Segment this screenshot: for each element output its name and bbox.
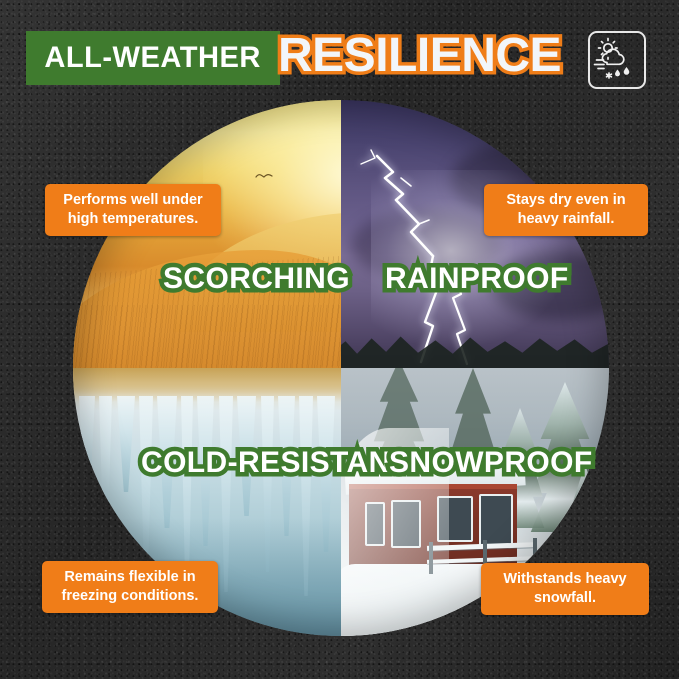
callout-heavy-rainfall: Stays dry even in heavy rainfall. [484,184,648,236]
bird-icon [255,172,273,179]
sand-ripples-lower [73,305,341,368]
quadrant-title-rainproof: RAINPROOF [385,262,569,296]
callout-freezing-conditions: Remains flexible in freezing conditions. [42,561,218,613]
weather-collage-circle [73,100,609,636]
header-green-bar: ALL-WEATHER [26,31,280,85]
quadrant-title-cold-resistant: COLD-RESISTANT [141,446,409,480]
icicle [117,396,135,492]
weather-icon-frame [588,31,646,89]
quadrant-title-scorching: SCORCHING [163,262,350,296]
infographic-canvas: ALL-WEATHER RESILIENCE [0,0,679,679]
quadrant-title-snowproof: SNOWPROOF [389,446,593,480]
callout-high-temperatures: Performs well under high temperatures. [45,184,221,236]
callout-heavy-snowfall: Withstands heavy snowfall. [481,563,649,615]
header-banner: ALL-WEATHER RESILIENCE [0,28,679,90]
icicle [79,396,95,514]
mixed-weather-icon [590,33,644,83]
cabin-door [479,494,513,546]
header-title-primary: ALL-WEATHER [45,41,262,75]
header-title-secondary: RESILIENCE [278,24,561,88]
